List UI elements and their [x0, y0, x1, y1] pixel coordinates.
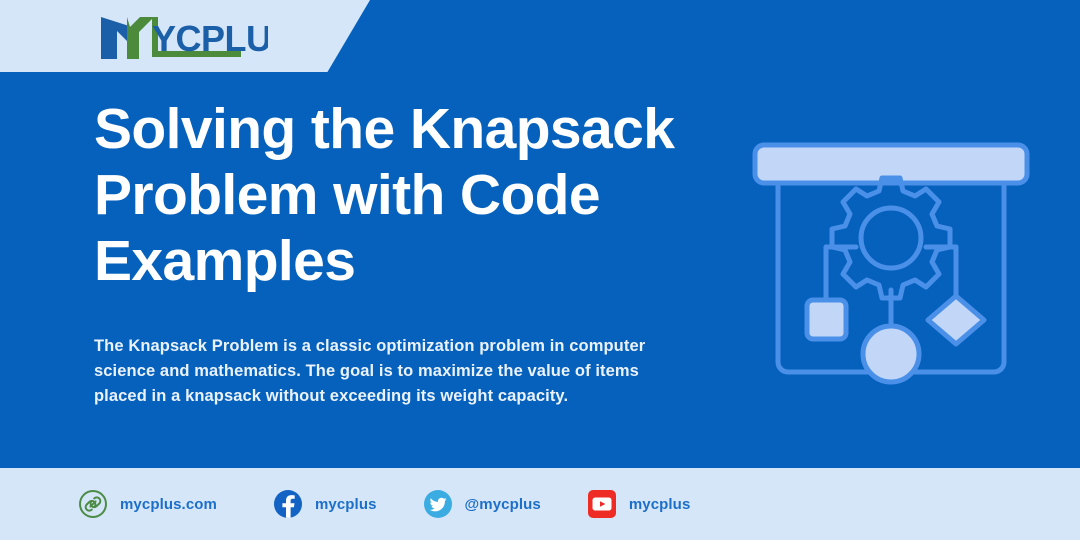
social-card: YCPLUS Solving the Knapsack Problem with… [0, 0, 1080, 540]
footer-bar: mycplus.com mycplus @mycplus [0, 468, 1080, 540]
twitter-icon [423, 489, 453, 519]
flowchart-illustration [752, 142, 1030, 387]
footer-label-youtube: mycplus [629, 496, 691, 513]
footer-link-facebook[interactable]: mycplus [273, 489, 377, 519]
footer-link-website[interactable]: mycplus.com [78, 489, 217, 519]
svg-text:YCPLUS: YCPLUS [152, 18, 268, 59]
footer-label-website: mycplus.com [120, 496, 217, 513]
youtube-icon [587, 489, 617, 519]
footer-link-youtube[interactable]: mycplus [587, 489, 691, 519]
link-icon [78, 489, 108, 519]
footer-label-twitter: @mycplus [465, 496, 541, 513]
footer-label-facebook: mycplus [315, 496, 377, 513]
page-title: Solving the Knapsack Problem with Code E… [94, 96, 734, 294]
mycplus-logo[interactable]: YCPLUS [96, 13, 268, 63]
facebook-icon [273, 489, 303, 519]
footer-link-twitter[interactable]: @mycplus [423, 489, 541, 519]
page-description: The Knapsack Problem is a classic optimi… [94, 334, 676, 409]
